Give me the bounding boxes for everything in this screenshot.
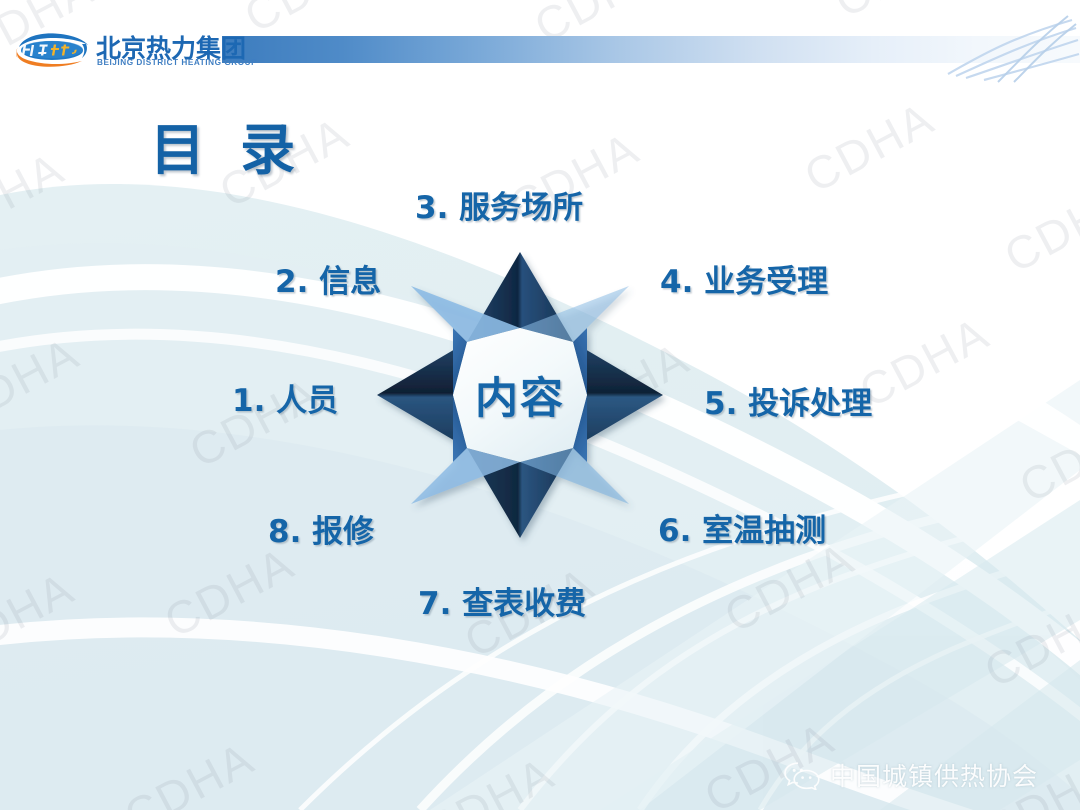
toc-item-6[interactable]: 6. 室温抽测 — [658, 505, 826, 550]
toc-item-7[interactable]: 7. 查表收费 — [418, 578, 586, 623]
toc-item-2[interactable]: 2. 信息 — [275, 256, 381, 301]
watermark-text: CDHA — [415, 746, 563, 810]
page-title: 目 录 — [150, 105, 303, 185]
header-swoosh-decoration — [940, 14, 1080, 84]
watermark-text: CDHA — [975, 586, 1080, 699]
wechat-account-name: 中国城镇供热协会 — [830, 757, 1038, 793]
wechat-account-badge: 中国城镇供热协会 — [782, 757, 1038, 793]
toc-item-3[interactable]: 3. 服务场所 — [415, 182, 583, 227]
star-center-label: 内容 — [365, 240, 675, 550]
watermark-text: CDHA — [850, 306, 998, 419]
toc-item-8[interactable]: 8. 报修 — [268, 506, 374, 551]
wechat-icon — [782, 760, 822, 790]
beijing-district-heating-logo-icon — [14, 32, 90, 68]
toc-item-1[interactable]: 1. 人员 — [232, 375, 338, 420]
watermark-text: CDHA — [115, 731, 263, 810]
watermark-text: CDHA — [1010, 401, 1080, 514]
toc-item-5[interactable]: 5. 投诉处理 — [704, 378, 872, 423]
watermark-text: CDHA — [0, 141, 73, 254]
content-star-diagram: 内容 — [365, 240, 675, 550]
watermark-text: CDHA — [995, 171, 1080, 284]
watermark-text: CDHA — [155, 536, 303, 649]
presentation-slide: CDHA CDHA CDHA CDHA CDHA CDHA CDHA CDHA … — [0, 0, 1080, 810]
watermark-text: CDHA — [795, 91, 943, 204]
logo-company-name-en: BEIJING DISTRICT HEATING GROUP — [97, 58, 257, 67]
company-logo: 北京热力集团 BEIJING DISTRICT HEATING GROUP — [14, 27, 224, 73]
toc-item-4[interactable]: 4. 业务受理 — [660, 256, 828, 301]
watermark-text: CDHA — [0, 326, 88, 439]
watermark-text: CDHA — [0, 561, 83, 674]
